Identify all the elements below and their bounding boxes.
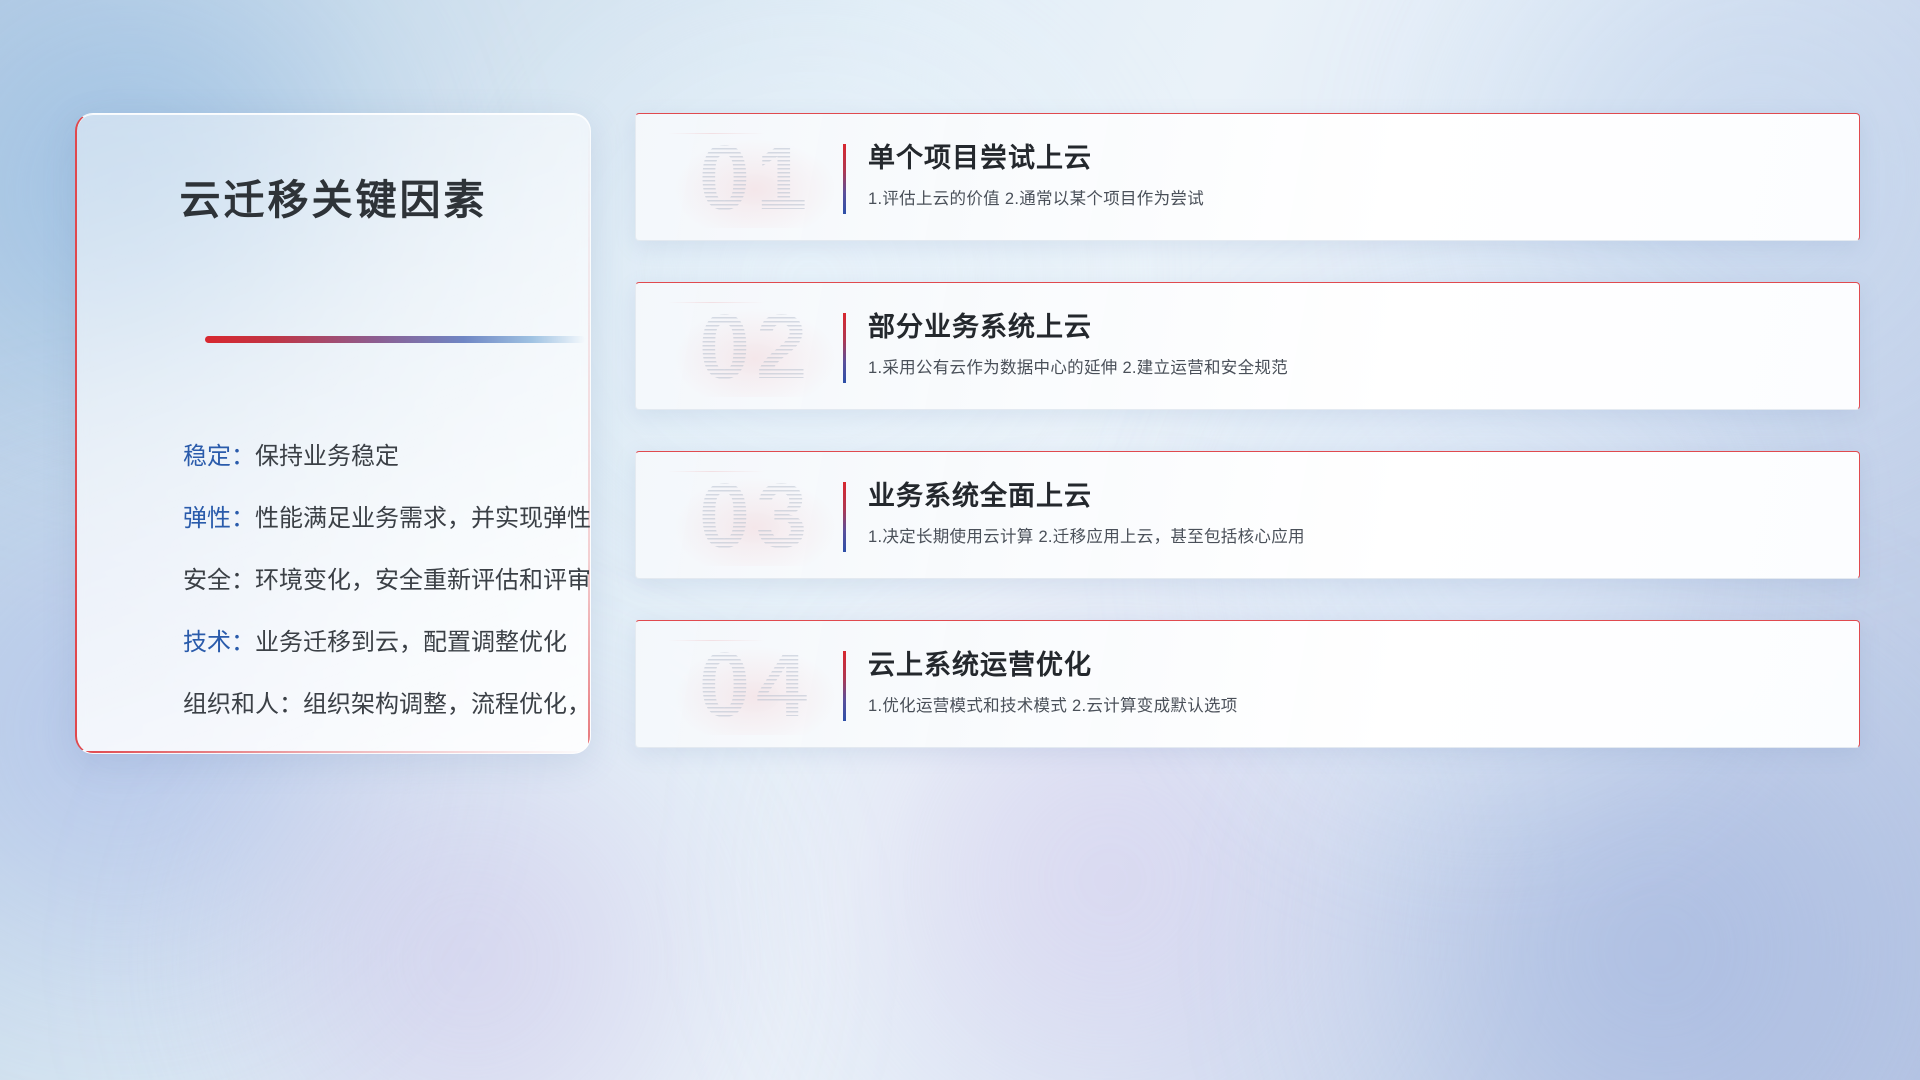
factor-row: 技术：业务迁移到云，配置调整优化 bbox=[183, 612, 570, 674]
stage-text-block: 业务系统全面上云1.决定长期使用云计算 2.迁移应用上云，甚至包括核心应用 bbox=[868, 477, 1835, 549]
stage-card[interactable]: 01单个项目尝试上云1.评估上云的价值 2.通常以某个项目作为尝试 bbox=[635, 113, 1860, 241]
factor-description: 性能满足业务需求，并实现弹性 bbox=[255, 505, 591, 532]
stage-text-block: 部分业务系统上云1.采用公有云作为数据中心的延伸 2.建立运营和安全规范 bbox=[868, 308, 1835, 380]
factor-description: 保持业务稳定 bbox=[255, 443, 399, 470]
factor-label: 稳定： bbox=[183, 443, 255, 470]
factor-list: 稳定：保持业务稳定弹性：性能满足业务需求，并实现弹性安全：环境变化，安全重新评估… bbox=[183, 426, 570, 754]
slide-stage: 云迁移关键因素 稳定：保持业务稳定弹性：性能满足业务需求，并实现弹性安全：环境变… bbox=[0, 0, 1920, 1080]
factor-description: 组织架构调整，流程优化， bbox=[303, 691, 591, 718]
factor-label: 安全： bbox=[183, 567, 255, 594]
factor-row: 弹性：性能满足业务需求，并实现弹性 bbox=[183, 488, 570, 550]
factor-label: 组织和人： bbox=[183, 691, 303, 718]
factor-label: 弹性： bbox=[183, 505, 255, 532]
stage-title: 业务系统全面上云 bbox=[868, 477, 1835, 515]
factor-description: 环境变化，安全重新评估和评审 bbox=[255, 567, 591, 594]
stage-description: 1.优化运营模式和技术模式 2.云计算变成默认选项 bbox=[868, 694, 1835, 718]
stage-title: 部分业务系统上云 bbox=[868, 308, 1835, 346]
factor-row: 稳定：保持业务稳定 bbox=[183, 426, 570, 488]
stage-description: 1.决定长期使用云计算 2.迁移应用上云，甚至包括核心应用 bbox=[868, 525, 1835, 549]
title-underline-accent bbox=[205, 336, 585, 343]
stage-description: 1.评估上云的价值 2.通常以某个项目作为尝试 bbox=[868, 187, 1835, 211]
stage-description: 1.采用公有云作为数据中心的延伸 2.建立运营和安全规范 bbox=[868, 356, 1835, 380]
factor-description: 业务迁移到云，配置调整优化 bbox=[255, 629, 567, 656]
stage-text-block: 单个项目尝试上云1.评估上云的价值 2.通常以某个项目作为尝试 bbox=[868, 139, 1835, 211]
stage-number: 03 bbox=[656, 451, 856, 579]
stage-divider-accent bbox=[843, 313, 846, 383]
stage-divider-accent bbox=[843, 144, 846, 214]
factor-description: 人员技能培训 bbox=[183, 753, 327, 754]
factor-row: 人员技能培训 bbox=[183, 736, 570, 754]
stage-card[interactable]: 03业务系统全面上云1.决定长期使用云计算 2.迁移应用上云，甚至包括核心应用 bbox=[635, 451, 1860, 579]
stage-number: 02 bbox=[656, 282, 856, 410]
stage-text-block: 云上系统运营优化1.优化运营模式和技术模式 2.云计算变成默认选项 bbox=[868, 646, 1835, 718]
stage-card[interactable]: 04云上系统运营优化1.优化运营模式和技术模式 2.云计算变成默认选项 bbox=[635, 620, 1860, 748]
factor-row: 安全：环境变化，安全重新评估和评审 bbox=[183, 550, 570, 612]
stage-title: 单个项目尝试上云 bbox=[868, 139, 1835, 177]
stage-card-list: 01单个项目尝试上云1.评估上云的价值 2.通常以某个项目作为尝试02部分业务系… bbox=[635, 113, 1860, 748]
factor-row: 组织和人：组织架构调整，流程优化， bbox=[183, 674, 570, 736]
stage-divider-accent bbox=[843, 482, 846, 552]
page-title: 云迁移关键因素 bbox=[77, 166, 590, 226]
stage-number: 01 bbox=[656, 113, 856, 241]
key-factors-panel: 云迁移关键因素 稳定：保持业务稳定弹性：性能满足业务需求，并实现弹性安全：环境变… bbox=[75, 113, 591, 754]
factor-label: 技术： bbox=[183, 629, 255, 656]
stage-number: 04 bbox=[656, 620, 856, 748]
stage-divider-accent bbox=[843, 651, 846, 721]
stage-card[interactable]: 02部分业务系统上云1.采用公有云作为数据中心的延伸 2.建立运营和安全规范 bbox=[635, 282, 1860, 410]
stage-title: 云上系统运营优化 bbox=[868, 646, 1835, 684]
